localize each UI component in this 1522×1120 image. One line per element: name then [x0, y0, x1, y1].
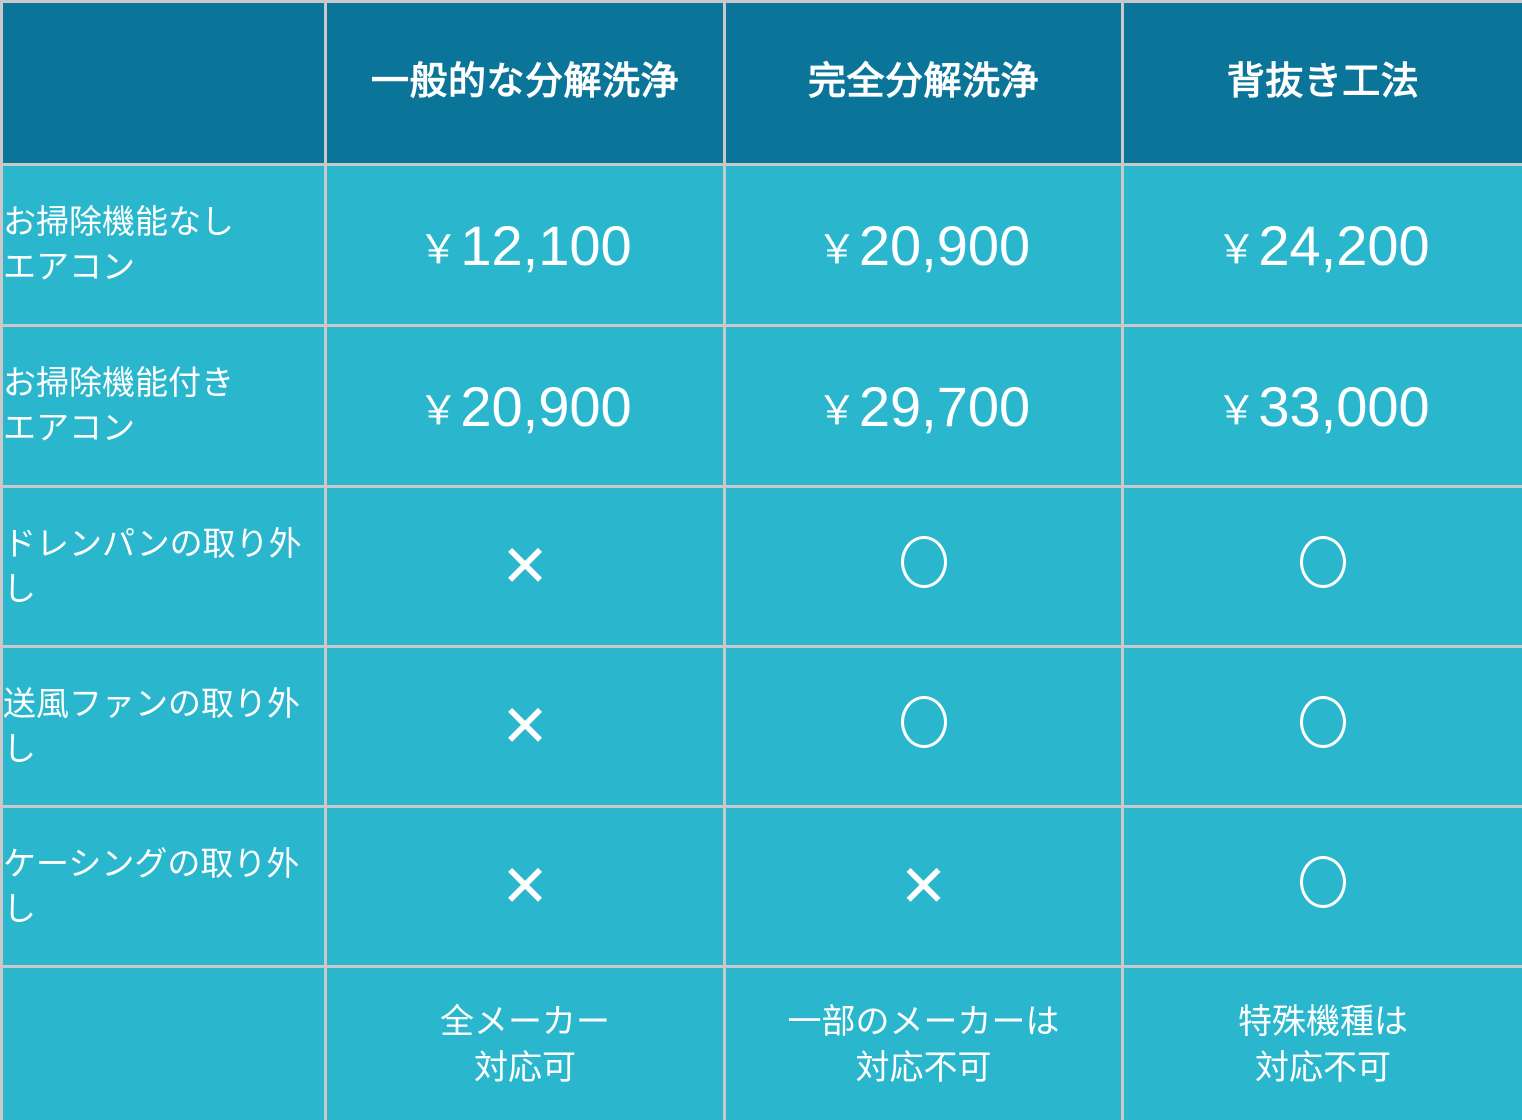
yen-symbol: ￥	[418, 228, 460, 272]
note-cell-senuki: 特殊機種は 対応不可	[1123, 967, 1522, 1120]
mark-cell-complete-drain-pan	[725, 487, 1123, 647]
mark-cell-complete-casing: ✕	[725, 807, 1123, 967]
circle-icon	[901, 536, 947, 588]
price-cell-general-with-clean: ￥20,900	[326, 326, 725, 487]
row-label-drain-pan-removal: ドレンパンの取り外 し	[2, 487, 326, 647]
note-cell-complete: 一部のメーカーは 対応不可	[725, 967, 1123, 1120]
row-label-text: ドレンパンの取り外 し	[3, 522, 324, 611]
mark-cell-senuki-drain-pan	[1123, 487, 1522, 647]
table-row: お掃除機能なし エアコン ￥12,100 ￥20,900 ￥24,200	[2, 165, 1522, 326]
circle-icon	[1300, 536, 1346, 588]
price-cell-general-no-clean: ￥12,100	[326, 165, 725, 326]
row-label-text: お掃除機能なし エアコン	[3, 200, 324, 289]
circle-icon	[901, 696, 947, 748]
column-header-complete: 完全分解洗浄	[725, 2, 1123, 165]
pricing-comparison-table: 一般的な分解洗浄 完全分解洗浄 背抜き工法 お掃除機能なし エアコン ￥12,1…	[0, 0, 1522, 1120]
column-header-senuki: 背抜き工法	[1123, 2, 1522, 165]
yen-symbol: ￥	[1216, 389, 1258, 433]
price-amount: 12,100	[460, 214, 631, 277]
cross-icon: ✕	[501, 698, 550, 756]
mark-cell-general-blower-fan: ✕	[326, 647, 725, 807]
price-amount: 20,900	[460, 375, 631, 438]
row-label-text: ケーシングの取り外 し	[3, 842, 324, 931]
row-label-blower-fan-removal: 送風ファンの取り外 し	[2, 647, 326, 807]
circle-icon	[1300, 856, 1346, 908]
yen-symbol: ￥	[418, 389, 460, 433]
circle-icon	[1300, 696, 1346, 748]
mark-cell-senuki-casing	[1123, 807, 1522, 967]
price-cell-complete-no-clean: ￥20,900	[725, 165, 1123, 326]
cross-icon: ✕	[501, 538, 550, 596]
mark-cell-general-casing: ✕	[326, 807, 725, 967]
cross-icon: ✕	[501, 858, 550, 916]
price-amount: 29,700	[859, 375, 1030, 438]
price-amount: 20,900	[859, 214, 1030, 277]
note-text: 一部のメーカーは 対応不可	[726, 1000, 1121, 1092]
price-cell-senuki-with-clean: ￥33,000	[1123, 326, 1522, 487]
mark-cell-general-drain-pan: ✕	[326, 487, 725, 647]
yen-symbol: ￥	[1216, 228, 1258, 272]
row-label-maker-support-note	[2, 967, 326, 1120]
note-cell-general: 全メーカー 対応可	[326, 967, 725, 1120]
cross-icon: ✕	[899, 858, 948, 916]
mark-cell-senuki-blower-fan	[1123, 647, 1522, 807]
note-text: 全メーカー 対応可	[327, 1000, 723, 1092]
table-body: お掃除機能なし エアコン ￥12,100 ￥20,900 ￥24,200 お掃除…	[2, 165, 1522, 1120]
table-header-row: 一般的な分解洗浄 完全分解洗浄 背抜き工法	[2, 2, 1522, 165]
column-header-general: 一般的な分解洗浄	[326, 2, 725, 165]
row-label-no-clean-function-ac: お掃除機能なし エアコン	[2, 165, 326, 326]
price-amount: 33,000	[1258, 375, 1429, 438]
yen-symbol: ￥	[817, 389, 859, 433]
table-row: ケーシングの取り外 し ✕ ✕	[2, 807, 1522, 967]
row-label-text: お掃除機能付き エアコン	[3, 361, 324, 450]
price-cell-senuki-no-clean: ￥24,200	[1123, 165, 1522, 326]
header-corner-cell	[2, 2, 326, 165]
row-label-text: 送風ファンの取り外 し	[3, 682, 324, 771]
table-row: お掃除機能付き エアコン ￥20,900 ￥29,700 ￥33,000	[2, 326, 1522, 487]
note-text: 特殊機種は 対応不可	[1124, 1000, 1522, 1092]
table-row: 全メーカー 対応可 一部のメーカーは 対応不可 特殊機種は 対応不可	[2, 967, 1522, 1120]
table-row: 送風ファンの取り外 し ✕	[2, 647, 1522, 807]
comparison-table-page: 一般的な分解洗浄 完全分解洗浄 背抜き工法 お掃除機能なし エアコン ￥12,1…	[0, 0, 1522, 1120]
mark-cell-complete-blower-fan	[725, 647, 1123, 807]
row-label-with-clean-function-ac: お掃除機能付き エアコン	[2, 326, 326, 487]
yen-symbol: ￥	[817, 228, 859, 272]
row-label-casing-removal: ケーシングの取り外 し	[2, 807, 326, 967]
price-cell-complete-with-clean: ￥29,700	[725, 326, 1123, 487]
price-amount: 24,200	[1258, 214, 1429, 277]
table-row: ドレンパンの取り外 し ✕	[2, 487, 1522, 647]
